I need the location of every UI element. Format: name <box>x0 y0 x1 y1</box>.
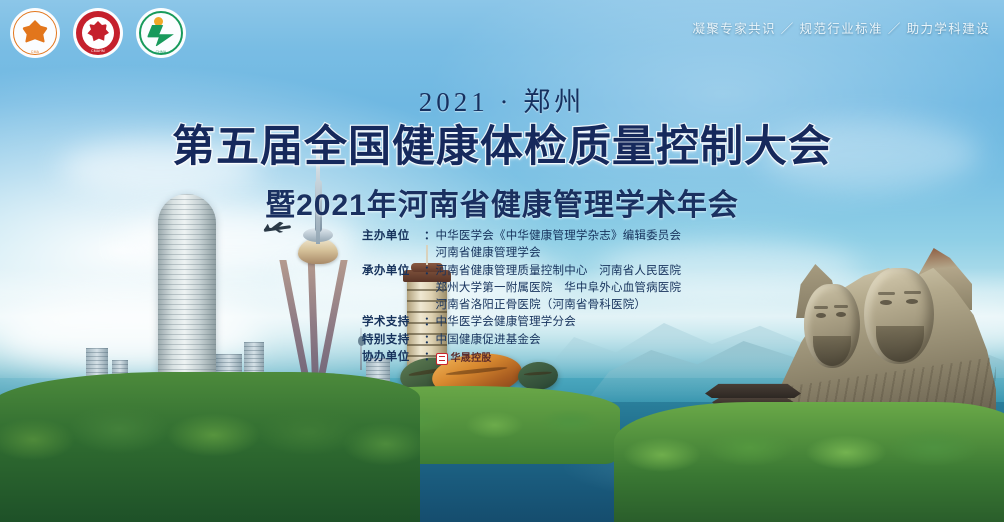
credit-value: 河南省洛阳正骨医院（河南省骨科医院） <box>436 297 682 314</box>
yellow-emperor-rock-statues <box>728 230 996 460</box>
logo-cma-text: CMA <box>31 50 39 54</box>
red-temple-building <box>710 382 796 448</box>
credit-label: 特别支持 <box>362 332 424 349</box>
credit-row-academic-support: 学术支持 ： 中华医学会健康管理学分会 <box>362 314 681 331</box>
page-title: 第五届全国健康体检质量控制大会 <box>0 125 1004 171</box>
credit-row-host: 主办单位 ： 中华医学会《中华健康管理学杂志》编辑委员会 河南省健康管理学会 <box>362 228 681 263</box>
city-building <box>86 348 108 394</box>
credit-colon: ： <box>424 349 436 366</box>
page-subtitle: 暨2021年河南省健康管理学术年会 <box>0 180 1004 224</box>
airplane-icon <box>262 222 292 235</box>
credit-value: 郑州大学第一附属医院 华中阜外心血管病医院 <box>436 280 682 297</box>
credit-row-special-support: 特别支持 ： 中国健康促进基金会 <box>362 332 681 349</box>
banner-tagline: 凝聚专家共识 ／ 规范行业标准 ／ 助力学科建设 <box>693 18 991 37</box>
city-building <box>244 342 264 394</box>
sponsor-logo-text: 华晟控股 <box>451 350 492 367</box>
logo-chma-text: CHMA <box>156 50 167 54</box>
credit-value: 河南省健康管理学会 <box>436 245 682 262</box>
credit-colon: ： <box>424 332 436 349</box>
sponsor-mark-icon <box>436 353 448 365</box>
credit-value: 中华医学会《中华健康管理学杂志》编辑委员会 <box>436 228 682 245</box>
logo-cmahm: CMAHM <box>73 8 123 58</box>
city-building <box>216 354 242 394</box>
boat-wake <box>886 465 944 470</box>
credits-block: 主办单位 ： 中华医学会《中华健康管理学杂志》编辑委员会 河南省健康管理学会 承… <box>362 228 681 367</box>
credit-value: 河南省健康管理质量控制中心 河南省人民医院 <box>436 263 682 280</box>
logo-cma: CMA <box>10 8 60 58</box>
lake-water <box>330 402 1004 522</box>
boat <box>940 455 986 470</box>
credit-row-co-organizer: 协办单位 ： 华晟控股 <box>362 349 681 367</box>
cloud-decoration <box>0 300 260 370</box>
credit-value: 中华医学会健康管理学分会 <box>436 314 576 331</box>
credit-label: 协办单位 <box>362 349 424 366</box>
city-building <box>112 360 128 394</box>
water-reflection <box>560 432 890 502</box>
foliage-right <box>614 402 1004 522</box>
logo-cmahm-text: CMAHM <box>91 49 105 53</box>
year-city-label: 2021 · 郑州 <box>0 80 1004 119</box>
credit-colon: ： <box>424 314 436 331</box>
foliage-left <box>0 372 420 522</box>
credit-label: 承办单位 <box>362 263 424 280</box>
zhengzhou-greenland-tower <box>158 194 216 394</box>
foliage-mid <box>290 386 620 464</box>
cloud-decoration <box>860 300 1004 354</box>
emperor-face-left <box>804 284 860 368</box>
credit-colon: ： <box>424 263 436 280</box>
conference-banner: CMA CMAHM CHMA 凝聚专家共识 ／ 规范行业标准 ／ 助力学科建设 … <box>0 0 1004 522</box>
emperor-face-right <box>864 268 934 364</box>
title-block: 2021 · 郑州 第五届全国健康体检质量控制大会 暨2021年河南省健康管理学… <box>0 80 1004 224</box>
co-organizer-logo: 华晟控股 <box>436 350 492 367</box>
organization-logos: CMA CMAHM CHMA <box>10 8 186 58</box>
credit-label: 学术支持 <box>362 314 424 331</box>
credit-value: 中国健康促进基金会 <box>436 332 541 349</box>
logo-chma: CHMA <box>136 8 186 58</box>
credit-row-organizer: 承办单位 ： 河南省健康管理质量控制中心 河南省人民医院 郑州大学第一附属医院 … <box>362 263 681 315</box>
credit-label: 主办单位 <box>362 228 424 245</box>
credit-colon: ： <box>424 228 436 245</box>
